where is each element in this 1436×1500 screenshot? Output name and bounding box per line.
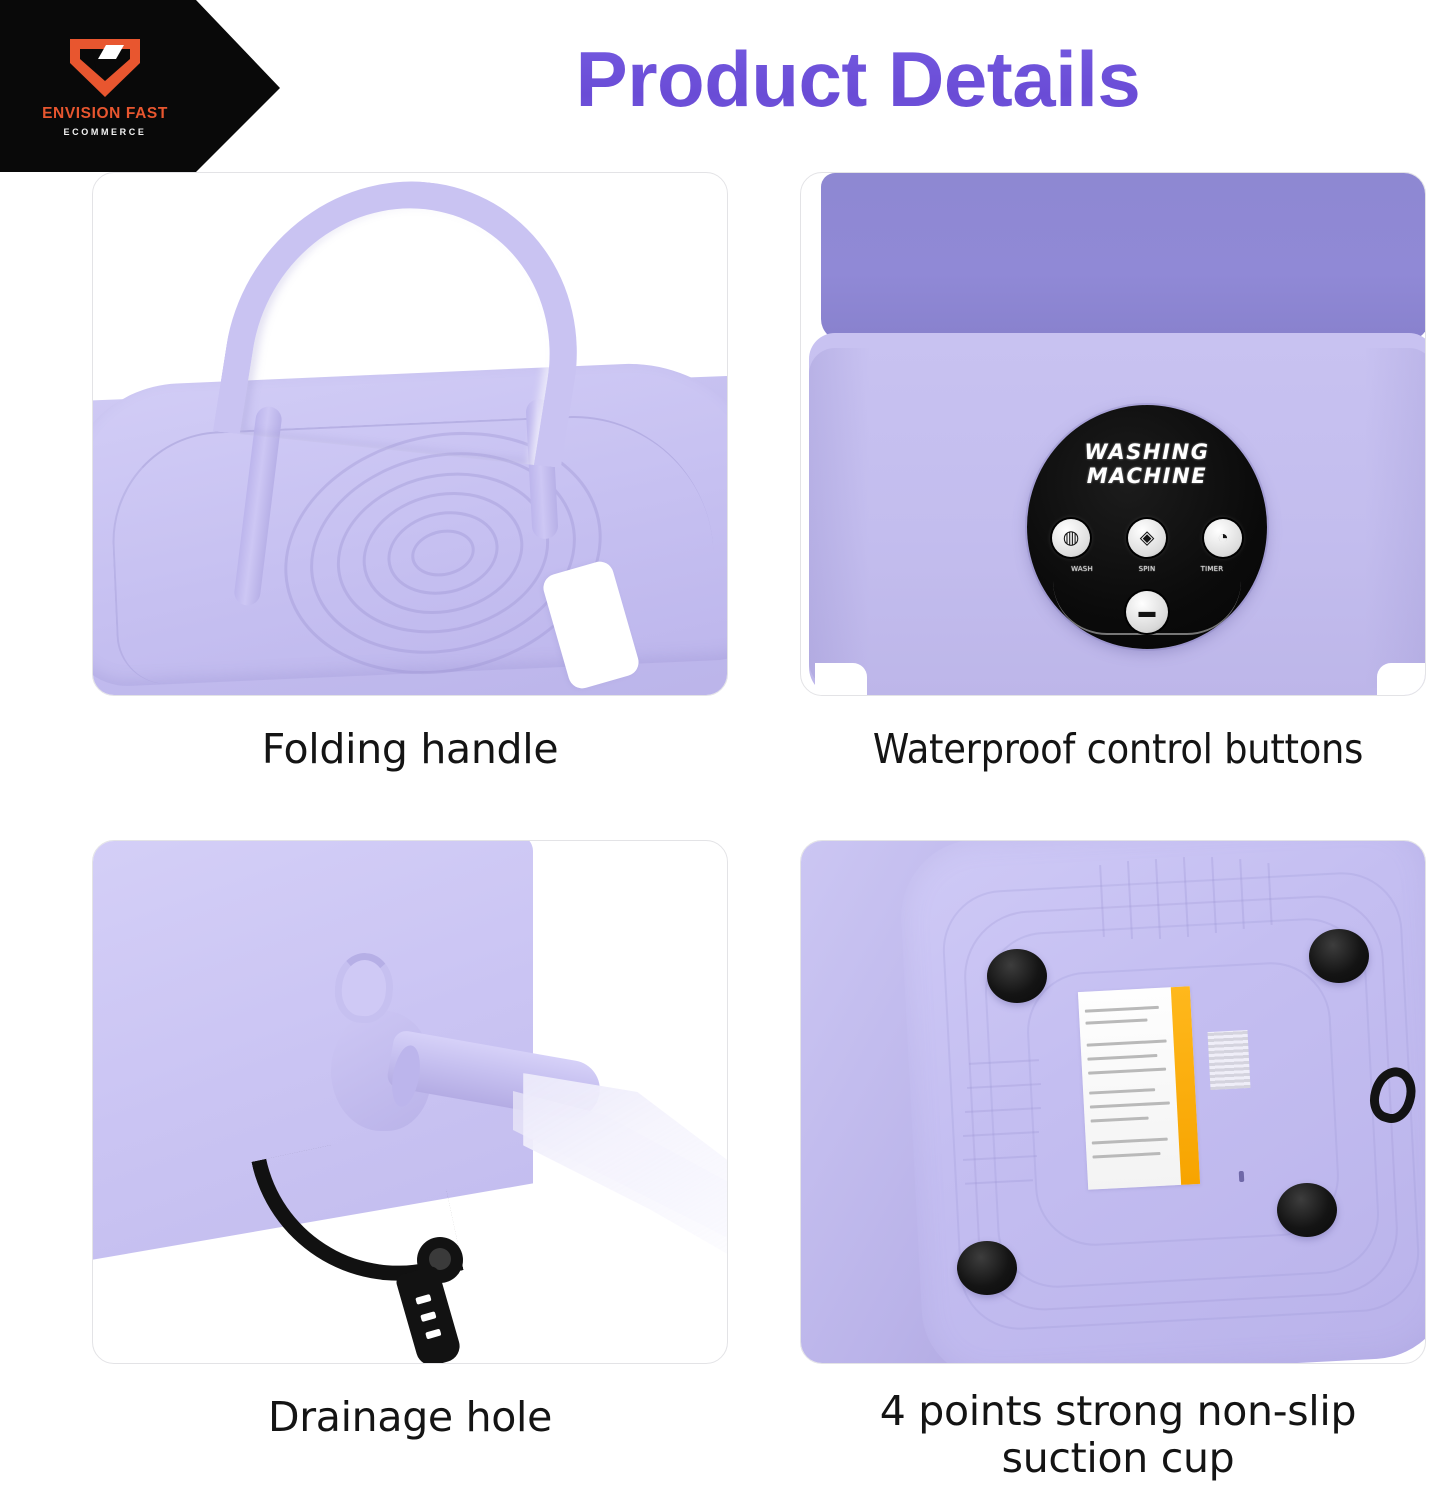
page-title: Product Details: [280, 0, 1436, 172]
suction-cups-caption-line1: 4 points strong non-slip: [800, 1388, 1436, 1435]
detail-card-control-buttons: WASHING MACHINE ◍ ◈ ◔ W: [800, 172, 1436, 844]
drain-hose-icon: [265, 1141, 475, 1321]
suction-cups-caption: 4 points strong non-slip suction cup: [800, 1388, 1436, 1482]
wash-mode-icon: ◍: [1063, 529, 1080, 548]
dial-brand-line2: MACHINE: [1087, 464, 1207, 488]
suction-cups-image: [800, 840, 1426, 1364]
wash-mode-button[interactable]: ◍: [1052, 519, 1090, 557]
power-icon: ▬: [1139, 602, 1156, 622]
control-buttons-caption: Waterproof control buttons: [832, 726, 1404, 773]
dial-brand-line1: WASHING: [1084, 440, 1209, 464]
drainage-hole-image: [92, 840, 728, 1364]
brand-banner: ENVISION FAST ECOMMERCE: [0, 0, 280, 172]
control-buttons-image: WASHING MACHINE ◍ ◈ ◔ W: [800, 172, 1426, 696]
dial-brand-text: WASHING MACHINE: [1027, 441, 1267, 488]
details-grid: Folding handle WASHING MACHINE ◍: [0, 172, 1436, 1500]
power-button[interactable]: ▬: [1126, 591, 1168, 633]
suction-cup: [1277, 1183, 1337, 1237]
folding-handle-caption: Folding handle: [92, 726, 728, 773]
suction-cup: [1309, 929, 1369, 983]
page-header: ENVISION FAST ECOMMERCE Product Details: [0, 0, 1436, 172]
water-stream: [523, 1073, 728, 1263]
timer-label: TIMER: [1169, 565, 1255, 573]
detail-card-folding-handle: Folding handle: [92, 172, 728, 844]
timer-button[interactable]: ◔: [1204, 519, 1242, 557]
control-dial[interactable]: WASHING MACHINE ◍ ◈ ◔ W: [1027, 405, 1267, 649]
suction-cup: [957, 1241, 1017, 1295]
folding-handle-icon: [233, 181, 583, 536]
detail-card-drainage-hole: Drainage hole: [92, 840, 728, 1500]
spin-dry-icon: ◈: [1140, 529, 1155, 548]
suction-cup: [987, 949, 1047, 1003]
brand-name: ENVISION FAST: [42, 106, 168, 122]
folding-handle-image: [92, 172, 728, 696]
timer-icon: ◔: [1217, 529, 1228, 548]
spin-dry-button[interactable]: ◈: [1128, 519, 1166, 557]
suction-cups-caption-line2: suction cup: [800, 1435, 1436, 1482]
machine-lid: [821, 173, 1426, 341]
product-label: [1078, 986, 1200, 1190]
detail-card-suction-cups: 4 points strong non-slip suction cup: [800, 840, 1436, 1500]
brand-tagline: ECOMMERCE: [64, 128, 147, 137]
qr-sticker: [1208, 1030, 1251, 1090]
envision-chevron-logo-icon: [66, 35, 144, 101]
drainage-hole-caption: Drainage hole: [92, 1394, 728, 1441]
